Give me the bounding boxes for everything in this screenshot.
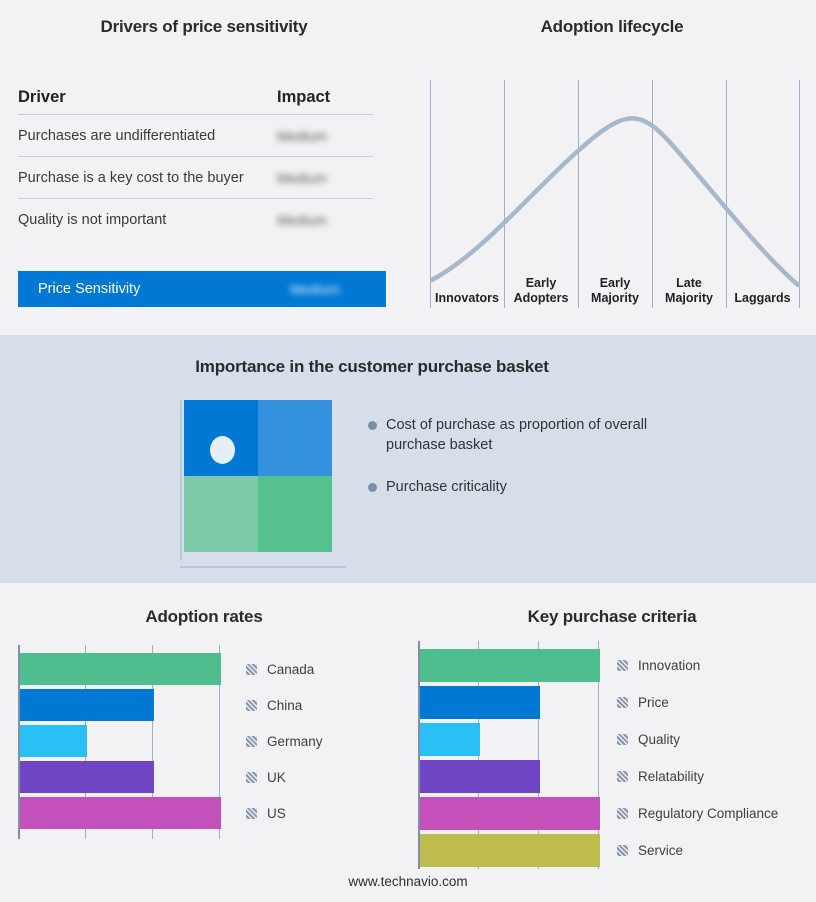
bar-regulatory-compliance xyxy=(420,797,600,830)
legend-item-us: US xyxy=(246,797,323,829)
purchase-basket-panel: Importance in the customer purchase bask… xyxy=(0,335,816,583)
bar-us xyxy=(20,797,221,829)
criteria-legend: Innovation Price Quality Relatability Re… xyxy=(617,649,778,867)
bar-relatability xyxy=(420,760,540,793)
legend-item-quality: Quality xyxy=(617,723,778,756)
legend-item-china: China xyxy=(246,689,323,721)
driver-label: Quality is not important xyxy=(18,212,277,228)
legend-item-regulatory-compliance: Regulatory Compliance xyxy=(617,797,778,830)
legend-item-uk: UK xyxy=(246,761,323,793)
lifecycle-stage-innovators: Innovators xyxy=(430,291,504,306)
impact-value: Medium xyxy=(277,212,373,228)
bar-quality xyxy=(420,723,480,756)
hatch-swatch-icon xyxy=(617,660,628,671)
quadrant-y-axis xyxy=(180,400,182,560)
legend-label: Quality xyxy=(638,732,680,747)
bullet-icon xyxy=(368,421,377,430)
table-row: Purchases are undifferentiated Medium xyxy=(18,115,373,157)
legend-item-price: Price xyxy=(617,686,778,719)
adoption-lifecycle-chart: Innovators Early Adopters Early Majority… xyxy=(430,80,800,312)
legend-item: Purchase criticality xyxy=(368,477,668,497)
legend-label: China xyxy=(267,698,302,713)
table-header-row: Driver Impact xyxy=(18,88,373,115)
bar-price xyxy=(420,686,540,719)
adoption-legend: Canada China Germany UK US xyxy=(246,653,323,829)
legend-label: UK xyxy=(267,770,286,785)
bar-canada xyxy=(20,653,221,685)
legend-label: Relatability xyxy=(638,769,704,784)
column-header-driver: Driver xyxy=(18,88,277,107)
legend-label: Innovation xyxy=(638,658,700,673)
adoption-rates-panel: Adoption rates xyxy=(0,583,408,863)
legend-item-relatability: Relatability xyxy=(617,760,778,793)
hatch-swatch-icon xyxy=(617,808,628,819)
hatch-swatch-icon xyxy=(246,664,257,675)
bullet-icon xyxy=(368,483,377,492)
hatch-swatch-icon xyxy=(246,772,257,783)
adoption-rates-title: Adoption rates xyxy=(0,607,408,627)
key-purchase-criteria-title: Key purchase criteria xyxy=(408,607,816,627)
driver-label: Purchase is a key cost to the buyer xyxy=(18,170,277,186)
criteria-bars xyxy=(420,641,600,869)
hatch-swatch-icon xyxy=(246,808,257,819)
quadrant-bottom-left xyxy=(184,476,258,552)
quadrant-grid xyxy=(184,400,332,552)
legend-label: Canada xyxy=(267,662,314,677)
quadrant-data-point xyxy=(210,436,235,464)
lifecycle-stage-laggards: Laggards xyxy=(726,291,799,306)
legend-item: Cost of purchase as proportion of overal… xyxy=(368,415,668,455)
quadrant-x-axis xyxy=(180,566,346,568)
legend-item-service: Service xyxy=(617,834,778,867)
quadrant-bottom-right xyxy=(258,476,332,552)
purchase-basket-legend: Cost of purchase as proportion of overal… xyxy=(368,415,668,519)
lifecycle-stage-late-majority: Late Majority xyxy=(652,276,726,306)
legend-item-germany: Germany xyxy=(246,725,323,757)
impact-value: Medium xyxy=(277,170,373,186)
impact-value: Medium xyxy=(277,128,373,144)
legend-label: Price xyxy=(638,695,669,710)
bar-uk xyxy=(20,761,154,793)
bar-germany xyxy=(20,725,87,757)
column-header-impact: Impact xyxy=(277,88,373,107)
purchase-basket-title: Importance in the customer purchase bask… xyxy=(0,357,744,377)
adoption-lifecycle-panel: Adoption lifecycle Innovators Early xyxy=(408,0,816,335)
legend-label: US xyxy=(267,806,286,821)
lifecycle-stage-early-majority: Early Majority xyxy=(578,276,652,306)
legend-item-canada: Canada xyxy=(246,653,323,685)
legend-item-innovation: Innovation xyxy=(617,649,778,682)
drivers-title: Drivers of price sensitivity xyxy=(0,17,408,37)
price-sensitivity-label: Price Sensitivity xyxy=(18,281,290,297)
criteria-plot-area xyxy=(418,641,607,869)
adoption-bars xyxy=(20,645,221,839)
legend-label: Service xyxy=(638,843,683,858)
hatch-swatch-icon xyxy=(617,697,628,708)
legend-label: Germany xyxy=(267,734,323,749)
hatch-swatch-icon xyxy=(246,700,257,711)
price-sensitivity-summary-row: Price Sensitivity Medium xyxy=(18,271,386,307)
hatch-swatch-icon xyxy=(246,736,257,747)
infographic-page: Drivers of price sensitivity Driver Impa… xyxy=(0,0,816,902)
table-row: Purchase is a key cost to the buyer Medi… xyxy=(18,157,373,199)
hatch-swatch-icon xyxy=(617,845,628,856)
footer-url: www.technavio.com xyxy=(0,874,816,889)
driver-label: Purchases are undifferentiated xyxy=(18,128,277,144)
quadrant-top-right xyxy=(258,400,332,476)
bar-innovation xyxy=(420,649,600,682)
drivers-table: Driver Impact Purchases are undifferenti… xyxy=(18,88,373,241)
lifecycle-stage-early-adopters: Early Adopters xyxy=(504,276,578,306)
adoption-plot-area xyxy=(18,645,223,839)
bar-service xyxy=(420,834,600,867)
key-purchase-criteria-chart: Innovation Price Quality Relatability Re… xyxy=(413,641,813,871)
legend-label: Regulatory Compliance xyxy=(638,806,778,821)
purchase-basket-quadrant-chart xyxy=(180,400,346,568)
legend-label: Cost of purchase as proportion of overal… xyxy=(386,415,668,455)
drivers-panel: Drivers of price sensitivity Driver Impa… xyxy=(0,0,408,335)
hatch-swatch-icon xyxy=(617,771,628,782)
hatch-swatch-icon xyxy=(617,734,628,745)
adoption-rates-chart: Canada China Germany UK US xyxy=(18,645,398,845)
lifecycle-stage-labels: Innovators Early Adopters Early Majority… xyxy=(430,256,800,306)
adoption-lifecycle-title: Adoption lifecycle xyxy=(408,17,816,37)
bar-china xyxy=(20,689,154,721)
table-row: Quality is not important Medium xyxy=(18,199,373,241)
key-purchase-criteria-panel: Key purchase criteria xyxy=(408,583,816,873)
price-sensitivity-impact: Medium xyxy=(290,281,386,297)
legend-label: Purchase criticality xyxy=(386,477,507,497)
